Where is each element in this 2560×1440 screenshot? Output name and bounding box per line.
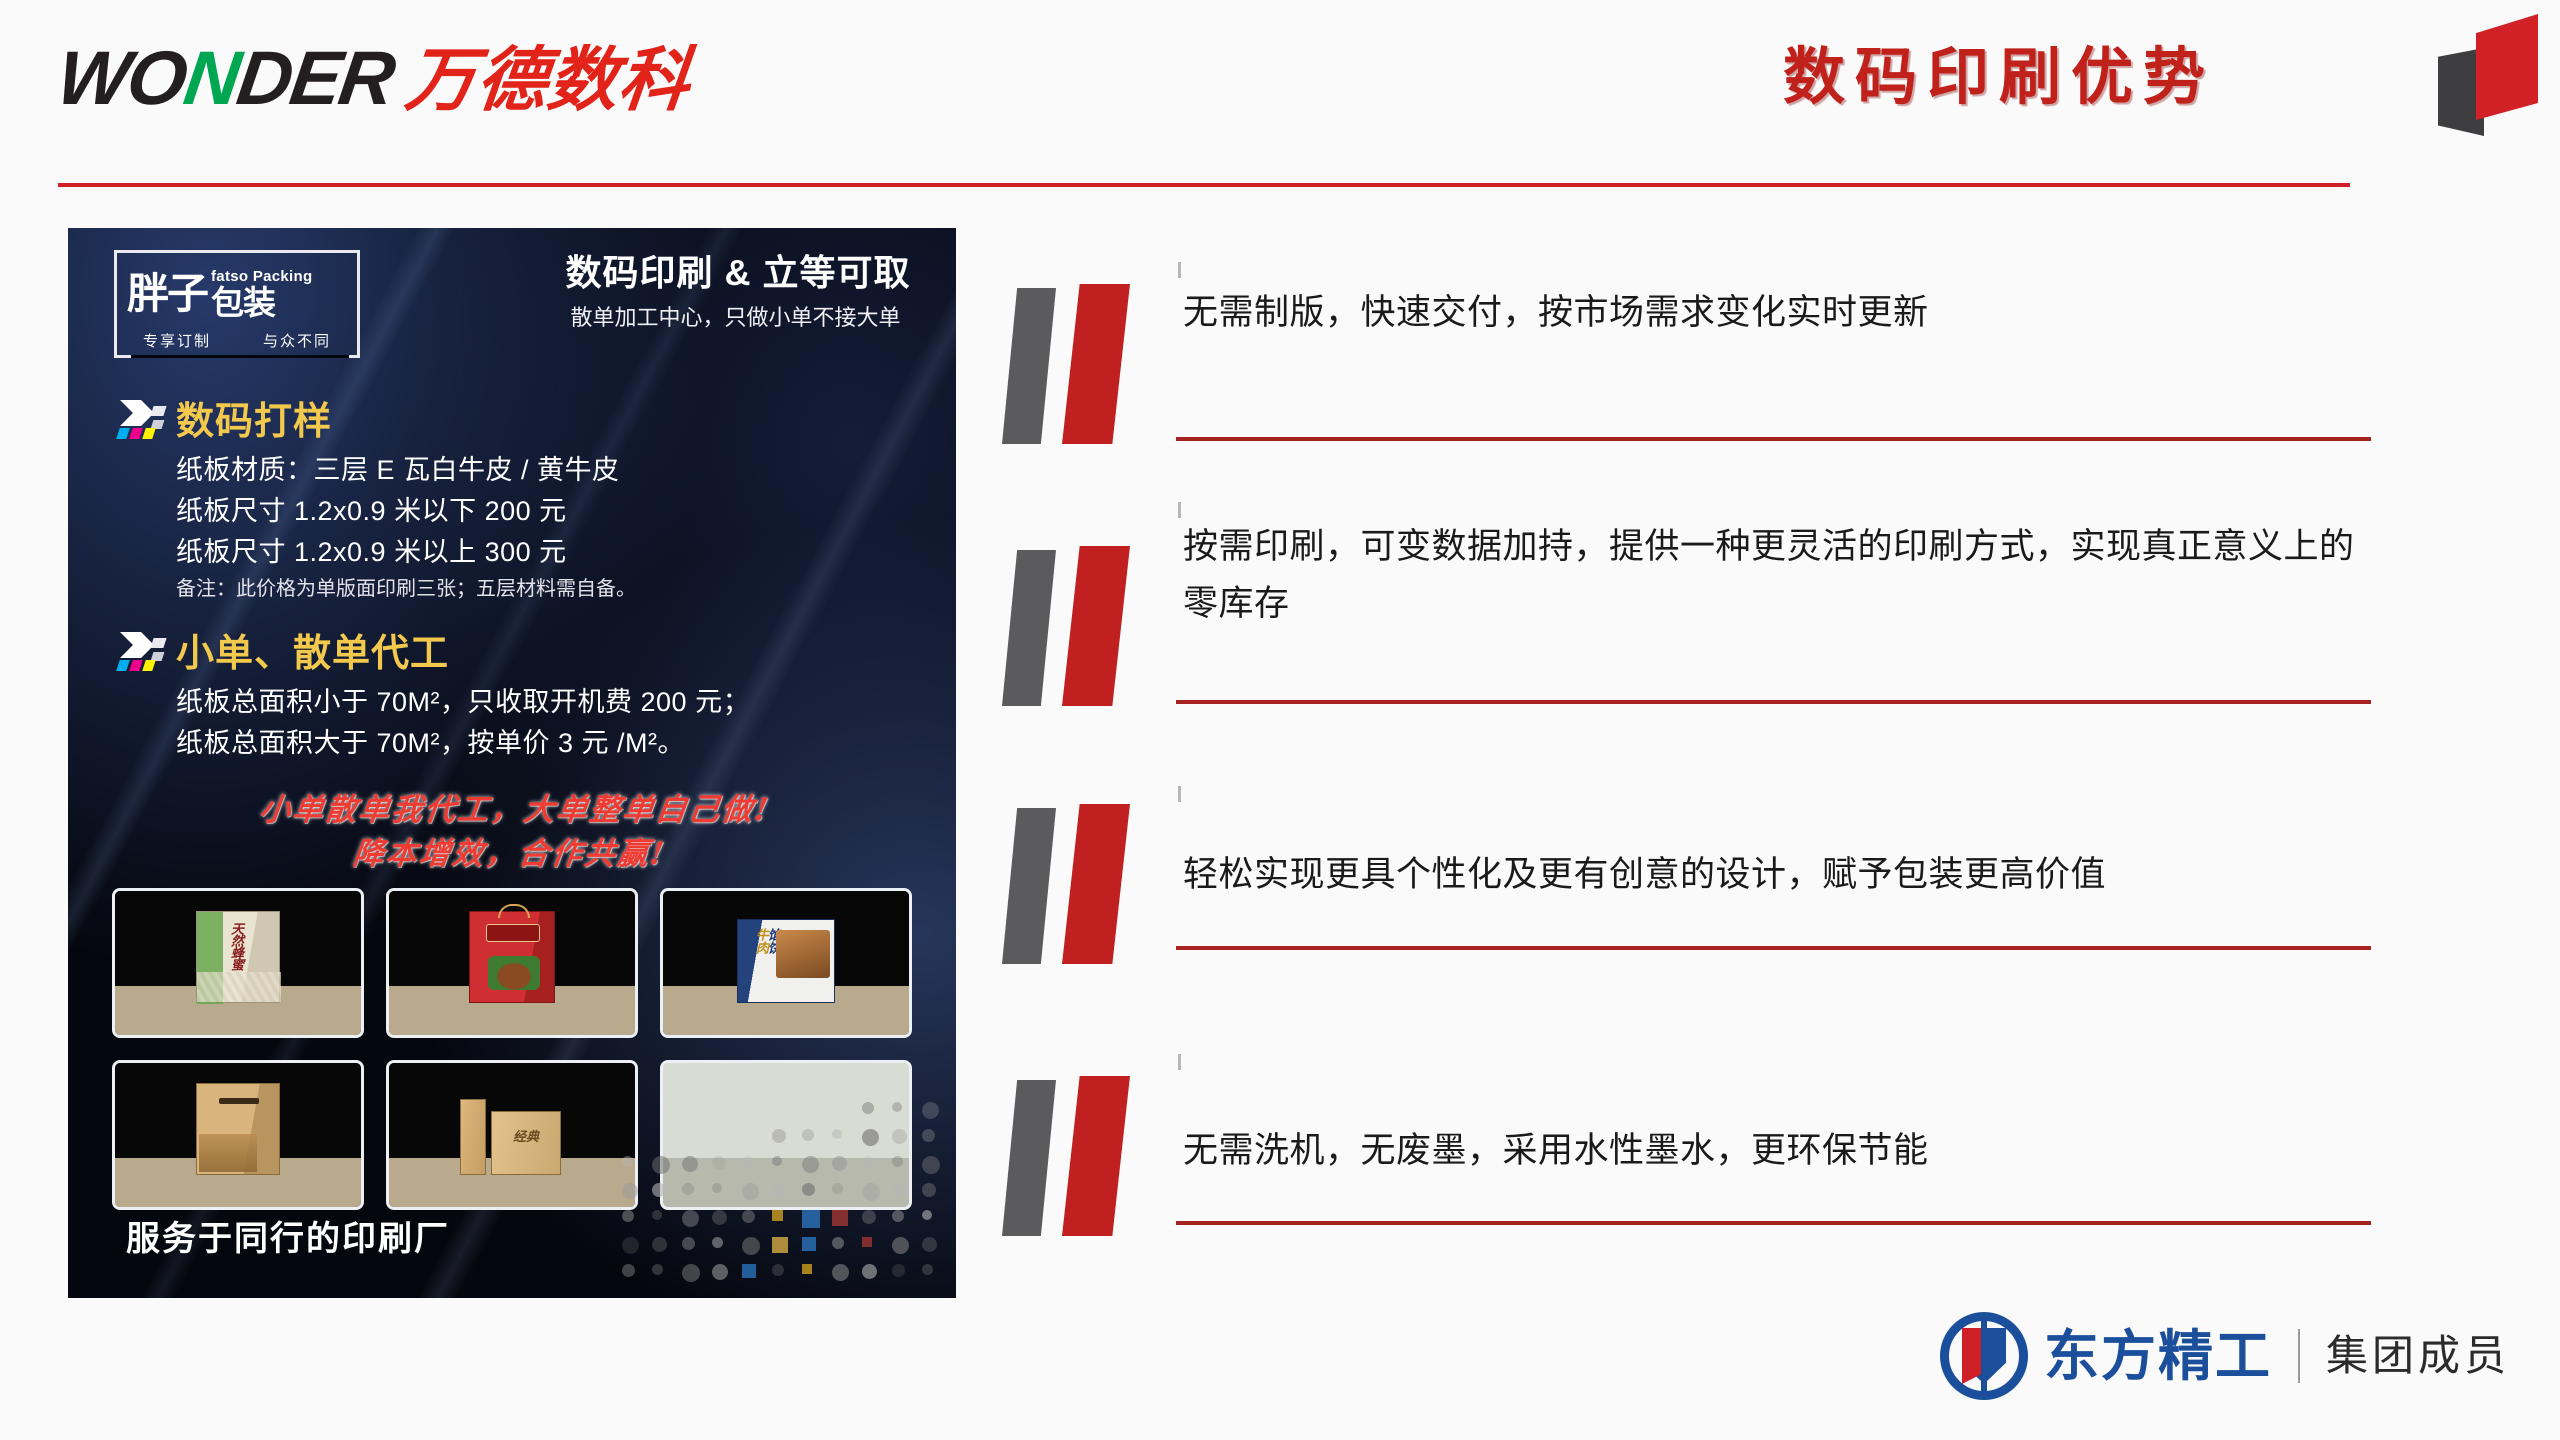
section-title: 数码打样: [176, 399, 332, 445]
fatso-tag-left: 专享订制: [143, 330, 211, 351]
advantages-list: 无需制版，快速交付，按市场需求变化实时更新 按需印刷，可变数据加持，提供一种更灵…: [1000, 262, 2380, 1258]
advantage-underline: [1176, 700, 2371, 704]
advantage-underline: [1176, 437, 2371, 441]
advantage-underline: [1176, 1221, 2371, 1225]
section-line: 纸板尺寸 1.2x0.9 米以下 200 元: [176, 491, 932, 532]
advantage-underline: [1176, 946, 2371, 950]
advantage-text: 按需印刷，可变数据加持，提供一种更灵活的印刷方式，实现真正意义上的零库存: [1183, 518, 2373, 632]
advantage-text: 无需制版，快速交付，按市场需求变化实时更新: [1183, 284, 2373, 341]
group-member-footer: 东方精工 集团成员: [1940, 1310, 2510, 1402]
product-photo: 经典: [386, 1060, 638, 1210]
poster-image: 胖子 fatso Packing 包装 专享订制 与众不同 数码印刷 & 立等可…: [68, 228, 956, 1298]
poster-header-band: 胖子 fatso Packing 包装 专享订制 与众不同 数码印刷 & 立等可…: [68, 228, 956, 378]
footer-company-name: 东方精工: [2044, 1326, 2272, 1386]
corner-decoration-icon: [2432, 8, 2542, 136]
fatso-logo-en: fatso Packing: [211, 268, 312, 285]
brand-wordmark-der: DER: [232, 40, 397, 118]
page-header: WO N DER 万德数科 数码印刷优势: [0, 0, 2560, 195]
section-body: 纸板材质：三层 E 瓦白牛皮 / 黄牛皮 纸板尺寸 1.2x0.9 米以下 20…: [176, 450, 932, 605]
dongfang-logo-icon: [1940, 1312, 2028, 1400]
brand-chinese-name: 万德数科: [402, 41, 694, 119]
fatso-packing-logo: 胖子 fatso Packing 包装 专享订制 与众不同: [114, 250, 360, 358]
section-line: 纸板材质：三层 E 瓦白牛皮 / 黄牛皮: [176, 450, 932, 491]
section-note: 备注：此价格为单版面印刷三张；五层材料需自备。: [176, 573, 932, 605]
section-body: 纸板总面积小于 70M²，只收取开机费 200 元； 纸板总面积大于 70M²，…: [176, 682, 932, 764]
section-heading: 数码打样: [112, 396, 932, 448]
bullet-chevron-icon: [1000, 804, 1150, 966]
bullet-chevron-icon: [1000, 284, 1150, 446]
poster-section-proofing: 数码打样 纸板材质：三层 E 瓦白牛皮 / 黄牛皮 纸板尺寸 1.2x0.9 米…: [112, 396, 932, 605]
page-title: 数码印刷优势: [1783, 38, 2215, 118]
advantage-item: 无需洗机，无废墨，采用水性墨水，更环保节能: [1000, 1026, 2380, 1258]
advantage-item: 无需制版，快速交付，按市场需求变化实时更新: [1000, 262, 2380, 494]
fatso-logo-top: 胖子 fatso Packing 包装: [127, 261, 349, 327]
fatso-tag-right: 与众不同: [263, 330, 331, 351]
advantage-item: 轻松实现更具个性化及更有创意的设计，赋予包装更高价值: [1000, 794, 2380, 1026]
product-photo: 牛肉馅饼: [660, 888, 912, 1038]
product-photo-row-1: 天然蜂蜜 牛肉馅饼: [112, 888, 912, 1038]
poster-section-oem: 小单、散单代工 纸板总面积小于 70M²，只收取开机费 200 元； 纸板总面积…: [112, 628, 932, 764]
bullet-chevron-icon: [1000, 546, 1150, 708]
bullet-tick-mark: [1178, 502, 1181, 518]
poster-slogan: 小单散单我代工，大单整单自己做! 降本增效，合作共赢!: [68, 788, 956, 876]
bullet-tick-mark: [1178, 262, 1181, 278]
footer-divider: [2298, 1329, 2300, 1383]
bullet-tick-mark: [1178, 786, 1181, 802]
chevron-arrow-icon: [112, 398, 174, 446]
slogan-line-2: 降本增效，合作共赢!: [68, 832, 956, 876]
bullet-chevron-icon: [1000, 1076, 1150, 1238]
bullet-tick-mark: [1178, 1054, 1181, 1070]
section-line: 纸板总面积小于 70M²，只收取开机费 200 元；: [176, 682, 932, 723]
poster-head-title: 数码印刷 & 立等可取: [538, 252, 938, 294]
chevron-arrow-icon: [112, 630, 174, 678]
dot-pattern-decoration: [622, 1102, 952, 1292]
section-heading: 小单、散单代工: [112, 628, 932, 680]
footer-member-label: 集团成员: [2326, 1331, 2510, 1381]
product-photo: [386, 888, 638, 1038]
fatso-logo-tagline: 专享订制 与众不同: [117, 330, 357, 351]
fatso-logo-cn-second: 包装: [211, 284, 275, 321]
fatso-logo-right: fatso Packing 包装: [211, 268, 312, 320]
slogan-line-1: 小单散单我代工，大单整单自己做!: [68, 788, 956, 832]
advantage-item: 按需印刷，可变数据加持，提供一种更灵活的印刷方式，实现真正意义上的零库存: [1000, 494, 2380, 794]
section-line: 纸板总面积大于 70M²，按单价 3 元 /M²。: [176, 723, 932, 764]
poster-head-subtitle: 散单加工中心，只做小单不接大单: [528, 304, 943, 332]
header-divider: [58, 183, 2350, 187]
product-photo: [112, 1060, 364, 1210]
corner-red-shape: [2476, 14, 2538, 120]
section-title: 小单、散单代工: [176, 631, 449, 677]
section-line: 纸板尺寸 1.2x0.9 米以上 300 元: [176, 532, 932, 573]
poster-caption: 服务于同行的印刷厂: [126, 1211, 450, 1260]
advantage-text: 无需洗机，无废墨，采用水性墨水，更环保节能: [1183, 1122, 2373, 1179]
advantage-text: 轻松实现更具个性化及更有创意的设计，赋予包装更高价值: [1183, 846, 2373, 903]
product-photo: 天然蜂蜜: [112, 888, 364, 1038]
brand-wordmark-wo: WO: [53, 40, 191, 118]
wonder-brand-logo: WO N DER 万德数科: [58, 40, 690, 118]
fatso-logo-cn-main: 胖子: [127, 270, 207, 318]
